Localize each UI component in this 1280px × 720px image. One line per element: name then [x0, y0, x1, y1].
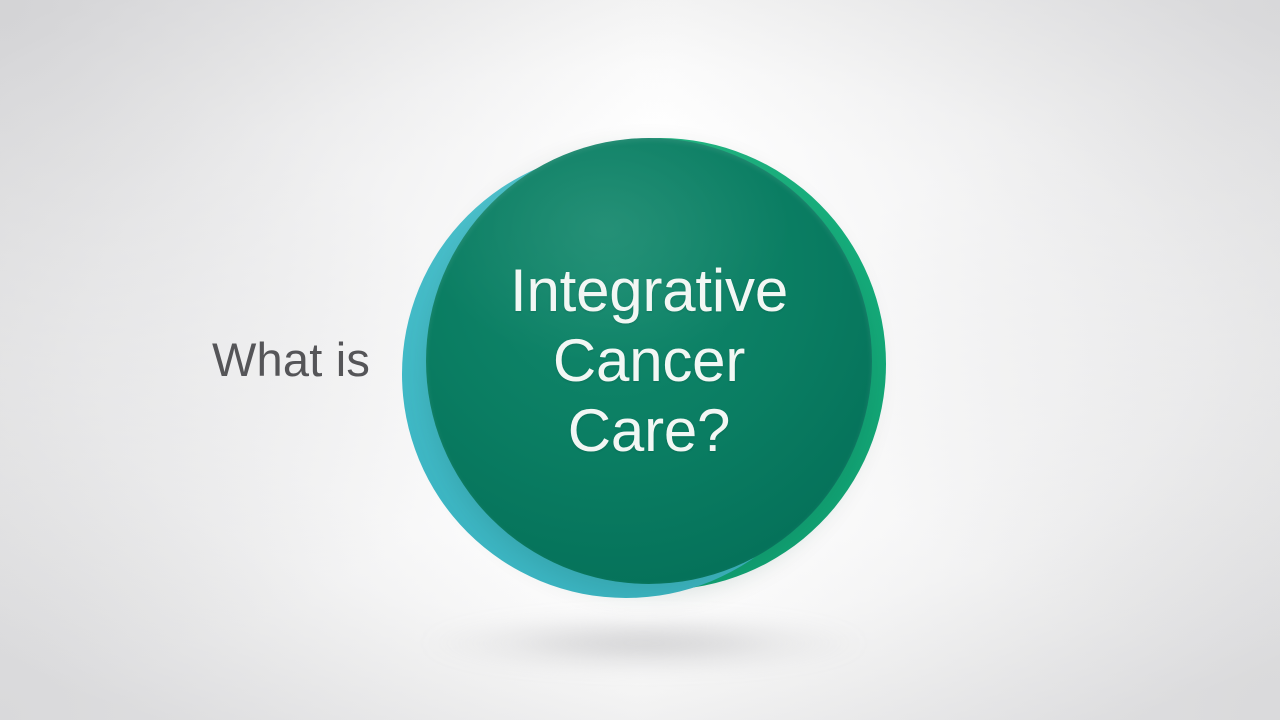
badge-ground-shadow — [420, 612, 868, 674]
badge-title-block: Integrative Cancer Care? — [426, 138, 872, 584]
badge-title-line-2: Cancer — [553, 326, 745, 396]
badge-title-line-1: Integrative — [510, 256, 788, 326]
caption-what-is: What is — [212, 336, 370, 383]
badge-title-line-3: Care? — [568, 396, 730, 466]
circular-badge: Integrative Cancer Care? — [400, 132, 890, 592]
slide-canvas: What is Integrative Cancer Care? — [0, 0, 1280, 720]
